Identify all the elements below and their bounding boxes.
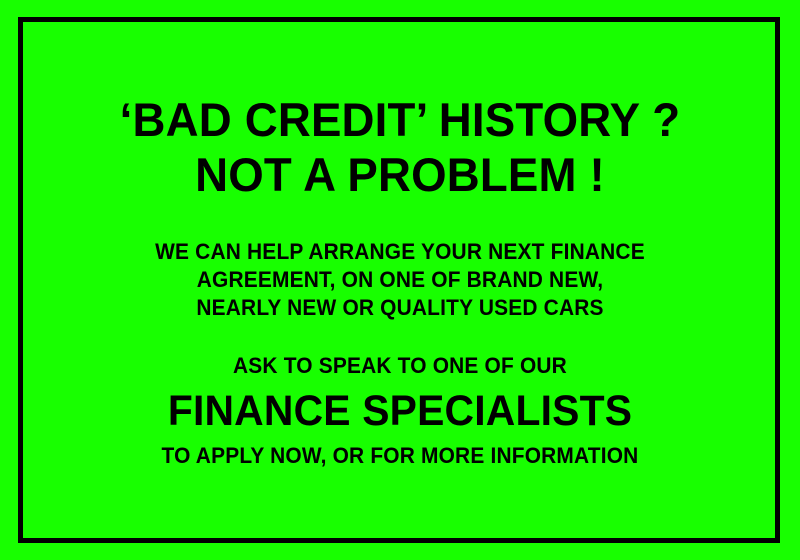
body-paragraph-block: WE CAN HELP ARRANGE YOUR NEXT FINANCE AG… [0,238,800,322]
headline-block: ‘BAD CREDIT’ HISTORY ? NOT A PROBLEM ! [0,92,800,202]
headline-line-1: ‘BAD CREDIT’ HISTORY ? [12,92,788,147]
advertisement-poster: ‘BAD CREDIT’ HISTORY ? NOT A PROBLEM ! W… [0,0,800,560]
cta-footer-line: TO APPLY NOW, OR FOR MORE INFORMATION [20,442,780,470]
body-paragraph-line-2: AGREEMENT, ON ONE OF BRAND NEW, [20,266,780,294]
cta-lead-line: ASK TO SPEAK TO ONE OF OUR [20,352,780,380]
body-paragraph-line-3: NEARLY NEW OR QUALITY USED CARS [20,294,780,322]
body-paragraph-line-1: WE CAN HELP ARRANGE YOUR NEXT FINANCE [20,238,780,266]
cta-headline: FINANCE SPECIALISTS [20,384,780,438]
headline-line-2: NOT A PROBLEM ! [12,147,788,202]
call-to-action-block: ASK TO SPEAK TO ONE OF OUR FINANCE SPECI… [0,352,800,470]
poster-content: ‘BAD CREDIT’ HISTORY ? NOT A PROBLEM ! W… [0,0,800,560]
